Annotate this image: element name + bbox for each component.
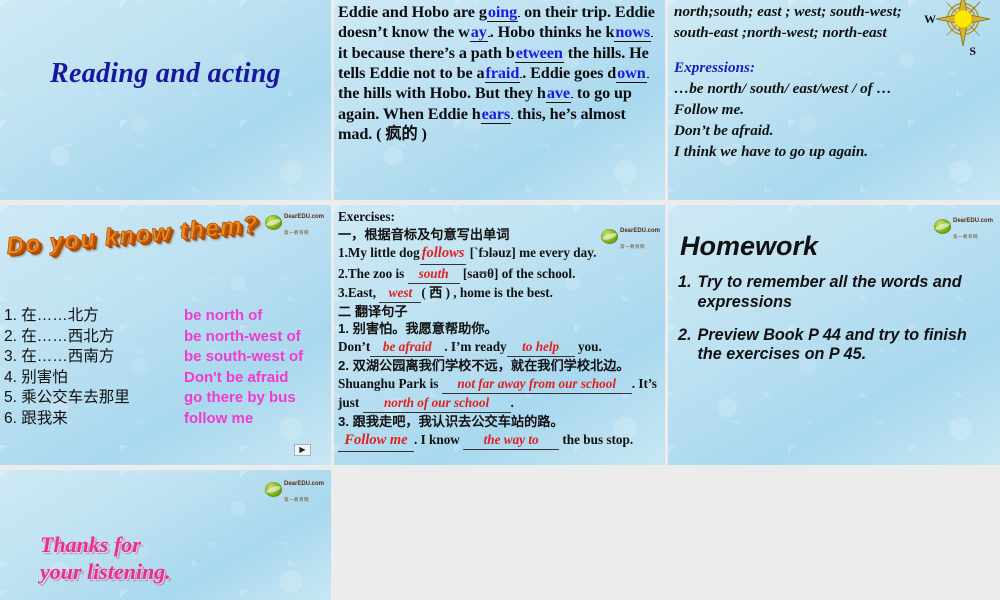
vocabulary-pair-row: 6. 跟我来 follow me bbox=[4, 406, 331, 427]
homework-list: 1.Try to remember all the words and expr… bbox=[678, 273, 988, 378]
vocabulary-english: follow me bbox=[184, 410, 253, 427]
vocabulary-chinese: 4. 别害怕 bbox=[4, 365, 184, 387]
cloze-answer: oing bbox=[487, 3, 518, 22]
t1-before: Don’t bbox=[338, 339, 370, 354]
slide-reading-and-acting[interactable]: Reading and acting bbox=[0, 0, 331, 200]
vocabulary-chinese: 6. 跟我来 bbox=[4, 406, 184, 428]
t1-answer-1: be afraid bbox=[370, 338, 444, 357]
q2-before: 2.The zoo is bbox=[338, 266, 408, 281]
q1-before: 1.My little dog bbox=[338, 245, 420, 260]
cloze-text: . Eddie goes d bbox=[522, 64, 616, 82]
logo-text-secondary: 第一教育网 bbox=[284, 230, 309, 235]
t1-mid: . I’m ready bbox=[444, 339, 506, 354]
logo-text-primary: DearEDU.com bbox=[284, 214, 324, 220]
homework-item: 1.Try to remember all the words and expr… bbox=[678, 273, 988, 313]
expression-item: I think we have to go up again. bbox=[674, 142, 994, 163]
vocabulary-pair-row: 1. 在……北方be north of bbox=[4, 303, 331, 324]
q2-answer: south bbox=[408, 265, 460, 284]
dearedu-logo: DearEDU.com 第一教育网 bbox=[265, 213, 321, 231]
compass-label-south: S bbox=[969, 44, 976, 59]
cloze-answer: nows bbox=[614, 23, 651, 42]
exercises-part1-heading: 一，根据音标及句意写出单词 bbox=[338, 226, 660, 244]
vocabulary-chinese: 1. 在……北方 bbox=[4, 303, 184, 325]
slide-cloze-passage[interactable]: Eddie and Hobo are going on their trip. … bbox=[334, 0, 665, 200]
exercise-q1: 1.My little dogfollows [`fɔləuz] me ever… bbox=[338, 244, 660, 265]
cloze-text: the hills with Hobo. But they h bbox=[338, 84, 546, 102]
slide-homework[interactable]: DearEDU.com 第一教育网 Homework 1.Try to reme… bbox=[668, 205, 1000, 465]
logo-text-primary: DearEDU.com bbox=[953, 218, 993, 224]
homework-item-number: 1. bbox=[678, 273, 692, 313]
slide-deck-grid: Reading and acting Eddie and Hobo are go… bbox=[0, 0, 1000, 600]
cloze-answer: ay bbox=[470, 23, 488, 42]
compass-label-west: W bbox=[924, 12, 936, 27]
compass-rose-icon bbox=[934, 0, 992, 48]
cloze-passage-text: Eddie and Hobo are going on their trip. … bbox=[334, 0, 665, 144]
translate-q2-chinese: 2. 双湖公园离我们学校不远，就在我们学校北边。 bbox=[338, 357, 660, 375]
vocabulary-english: be north of bbox=[184, 307, 262, 324]
t2-answer-1: not far away from our school bbox=[442, 375, 632, 394]
translate-q3-answer-line: Follow me. I know the way to the bus sto… bbox=[338, 431, 660, 452]
thanks-line-2: your listening. bbox=[40, 559, 171, 586]
dearedu-ball-icon bbox=[265, 215, 282, 230]
t1-after: you. bbox=[575, 339, 602, 354]
cloze-blank-line bbox=[647, 77, 649, 78]
cloze-answer: own bbox=[616, 64, 647, 83]
cloze-blank-line bbox=[651, 36, 653, 37]
expression-item: Follow me. bbox=[674, 100, 994, 121]
t1-answer-2: to help bbox=[507, 338, 575, 357]
slide-thanks[interactable]: DearEDU.com 第一教育网 Thanks for your listen… bbox=[0, 470, 331, 600]
homework-item-number: 2. bbox=[678, 326, 692, 366]
page-title: Reading and acting bbox=[0, 58, 331, 90]
exercises-heading: Exercises: bbox=[338, 208, 660, 226]
translate-q3-chinese: 3. 跟我走吧，我认识去公交车站的路。 bbox=[338, 413, 660, 431]
q1-after: [`fɔləuz] me every day. bbox=[466, 245, 596, 260]
slide-directions-expressions[interactable]: north;south; east ; west; south-west; so… bbox=[668, 0, 1000, 200]
q1-answer: follows bbox=[420, 244, 467, 265]
expressions-heading: Expressions: bbox=[674, 58, 994, 79]
cloze-text: Eddie and Hobo are g bbox=[338, 3, 487, 21]
vocabulary-english: be north-west of bbox=[184, 328, 301, 345]
dearedu-logo: DearEDU.com 第一教育网 bbox=[934, 217, 990, 235]
t2-before: Shuanghu Park is bbox=[338, 376, 442, 391]
logo-text-secondary: 第一教育网 bbox=[284, 497, 309, 502]
wordart-title: Do you know them? bbox=[5, 211, 260, 261]
vocabulary-pair-row: 4. 别害怕Don't be afraid bbox=[4, 365, 331, 386]
homework-item: 2.Preview Book P 44 and try to finish th… bbox=[678, 326, 988, 366]
exercises-part2-heading: 二 翻译句子 bbox=[338, 303, 660, 321]
cloze-text: it because there’s a path b bbox=[338, 44, 515, 62]
logo-text-primary: DearEDU.com bbox=[284, 481, 324, 487]
q2-after: [saʊθ] of the school. bbox=[460, 266, 576, 281]
dearedu-ball-icon bbox=[934, 219, 951, 234]
vocabulary-chinese: 3. 在……西南方 bbox=[4, 344, 184, 366]
slide-do-you-know-them[interactable]: Do you know them? DearEDU.com 第一教育网 1. 在… bbox=[0, 205, 331, 465]
next-slide-button[interactable]: ▶ bbox=[294, 444, 311, 456]
slide-exercises[interactable]: DearEDU.com 第一教育网 Exercises: 一，根据音标及句意写出… bbox=[334, 205, 665, 465]
q3-before: 3.East, bbox=[338, 285, 379, 300]
exercise-q2: 2.The zoo is south [saʊθ] of the school. bbox=[338, 265, 660, 284]
dearedu-ball-icon bbox=[265, 482, 282, 497]
expression-item: Don’t be afraid. bbox=[674, 121, 994, 142]
vocabulary-pair-row: 5. 乘公交车去那里go there by bus bbox=[4, 385, 331, 406]
expression-item: …be north/ south/ east/west / of … bbox=[674, 79, 994, 100]
vocabulary-pair-row: 3. 在……西南方 be south-west of bbox=[4, 344, 331, 365]
translate-q2-answer-line: Shuanghu Park is not far away from our s… bbox=[338, 375, 660, 413]
logo-text-secondary: 第一教育网 bbox=[953, 234, 978, 239]
exercise-q3: 3.East, west( 西 ) , home is the best. bbox=[338, 284, 660, 303]
t3-answer-1: Follow me bbox=[338, 431, 414, 452]
q3-answer: west bbox=[379, 284, 421, 303]
homework-item-text: Preview Book P 44 and try to finish the … bbox=[698, 326, 988, 366]
t2-after: . bbox=[511, 395, 514, 410]
cloze-answer: etween bbox=[515, 44, 564, 63]
homework-item-text: Try to remember all the words and expres… bbox=[698, 273, 988, 313]
cloze-answer: fraid bbox=[485, 64, 521, 83]
vocabulary-english: go there by bus bbox=[184, 389, 296, 406]
translate-q1-answer-line: Don’tbe afraid. I’m readyto help you. bbox=[338, 338, 660, 357]
thanks-message: Thanks for your listening. bbox=[40, 532, 171, 586]
t3-mid: . I know bbox=[414, 432, 463, 447]
t3-after: the bus stop. bbox=[559, 432, 633, 447]
vocabulary-chinese: 5. 乘公交车去那里 bbox=[4, 385, 184, 407]
cloze-answer: ears bbox=[481, 105, 511, 124]
cloze-text: . Hobo thinks he k bbox=[490, 23, 615, 41]
t3-answer-2: the way to bbox=[463, 431, 559, 450]
vocabulary-chinese: 2. 在……西北方 bbox=[4, 324, 184, 346]
thanks-line-1: Thanks for bbox=[40, 532, 171, 559]
vocabulary-pair-list: 1. 在……北方be north of2. 在……西北方be north-wes… bbox=[4, 303, 331, 426]
translate-q1-chinese: 1. 别害怕。我愿意帮助你。 bbox=[338, 320, 660, 338]
vocabulary-english: Don't be afraid bbox=[184, 369, 288, 386]
dearedu-logo: DearEDU.com 第一教育网 bbox=[265, 480, 321, 498]
vocabulary-pair-row: 2. 在……西北方be north-west of bbox=[4, 324, 331, 345]
t2-answer-2: north of our school bbox=[363, 394, 511, 413]
homework-title: Homework bbox=[680, 231, 818, 262]
q3-after: ( 西 ) , home is the best. bbox=[421, 285, 553, 300]
vocabulary-english: be south-west of bbox=[184, 348, 303, 365]
cloze-answer: ave bbox=[546, 84, 571, 103]
